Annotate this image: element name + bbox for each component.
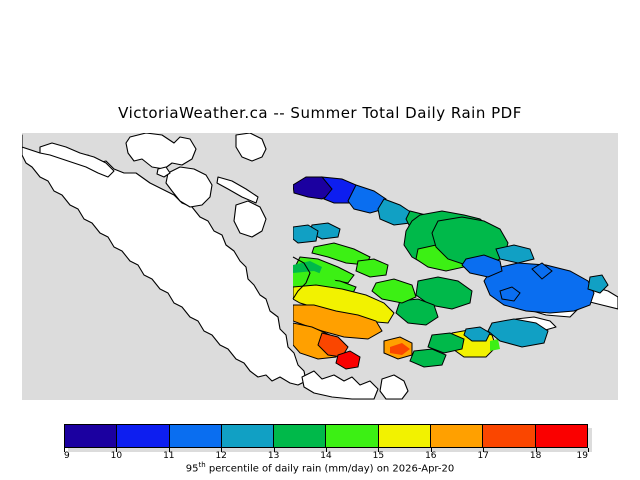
- colorbar-segment-17-18[interactable]: [483, 425, 535, 447]
- colorbar-tick-label-18: 18: [530, 451, 541, 461]
- colorbar-segment-13-14[interactable]: [274, 425, 326, 447]
- region-east-green-bright: [372, 279, 416, 303]
- colorbar-segment-15-16[interactable]: [379, 425, 431, 447]
- north-island-d: [234, 201, 266, 237]
- colorbar-tick-label-10: 10: [111, 451, 122, 461]
- colorbar-tick-label-11: 11: [163, 451, 174, 461]
- colorbar-tick-label-17: 17: [477, 451, 488, 461]
- colorbar-tick-label-9: 9: [64, 451, 70, 461]
- colorbar-segment-9-10[interactable]: [65, 425, 117, 447]
- south-white-peninsula: [302, 371, 378, 399]
- colorbar-strip[interactable]: [64, 424, 588, 448]
- colorbar-tick-19: [588, 448, 589, 452]
- map-panel[interactable]: [22, 133, 618, 400]
- colorbar-ticks: 910111213141516171819: [64, 448, 588, 462]
- map-page: VictoriaWeather.ca -- Summer Total Daily…: [0, 0, 640, 480]
- colorbar-tick-label-19: 19: [577, 451, 588, 461]
- colorbar-segment-16-17[interactable]: [431, 425, 483, 447]
- caption-superscript: th: [199, 461, 206, 469]
- caption-prefix: 95: [186, 463, 199, 474]
- north-thin-island: [217, 177, 258, 203]
- region-archipelago-d: [356, 259, 388, 277]
- south-white-island: [380, 375, 408, 399]
- region-east-teal-north: [496, 245, 534, 263]
- page-title: VictoriaWeather.ca -- Summer Total Daily…: [0, 104, 640, 122]
- region-island-yellow-greentip: [490, 339, 500, 351]
- colorbar-tick-label-16: 16: [425, 451, 436, 461]
- map-canvas[interactable]: [22, 133, 618, 400]
- data-regions-group: [293, 177, 608, 369]
- colorbar-segment-12-13[interactable]: [222, 425, 274, 447]
- colorbar-tick-label-13: 13: [268, 451, 279, 461]
- colorbar-segment-14-15[interactable]: [326, 425, 378, 447]
- colorbar-segment-10-11[interactable]: [117, 425, 169, 447]
- caption-rest: percentile of daily rain (mm/day) on 202…: [206, 463, 455, 474]
- colorbar-tick-label-15: 15: [373, 451, 384, 461]
- colorbar-segment-18-19[interactable]: [536, 425, 587, 447]
- colorbar-tick-label-12: 12: [215, 451, 226, 461]
- north-island-c: [236, 133, 266, 161]
- colorbar-caption: 95th percentile of daily rain (mm/day) o…: [0, 461, 640, 474]
- colorbar[interactable]: [64, 424, 588, 448]
- colorbar-tick-label-14: 14: [320, 451, 331, 461]
- north-island-a: [126, 133, 196, 169]
- colorbar-segment-11-12[interactable]: [170, 425, 222, 447]
